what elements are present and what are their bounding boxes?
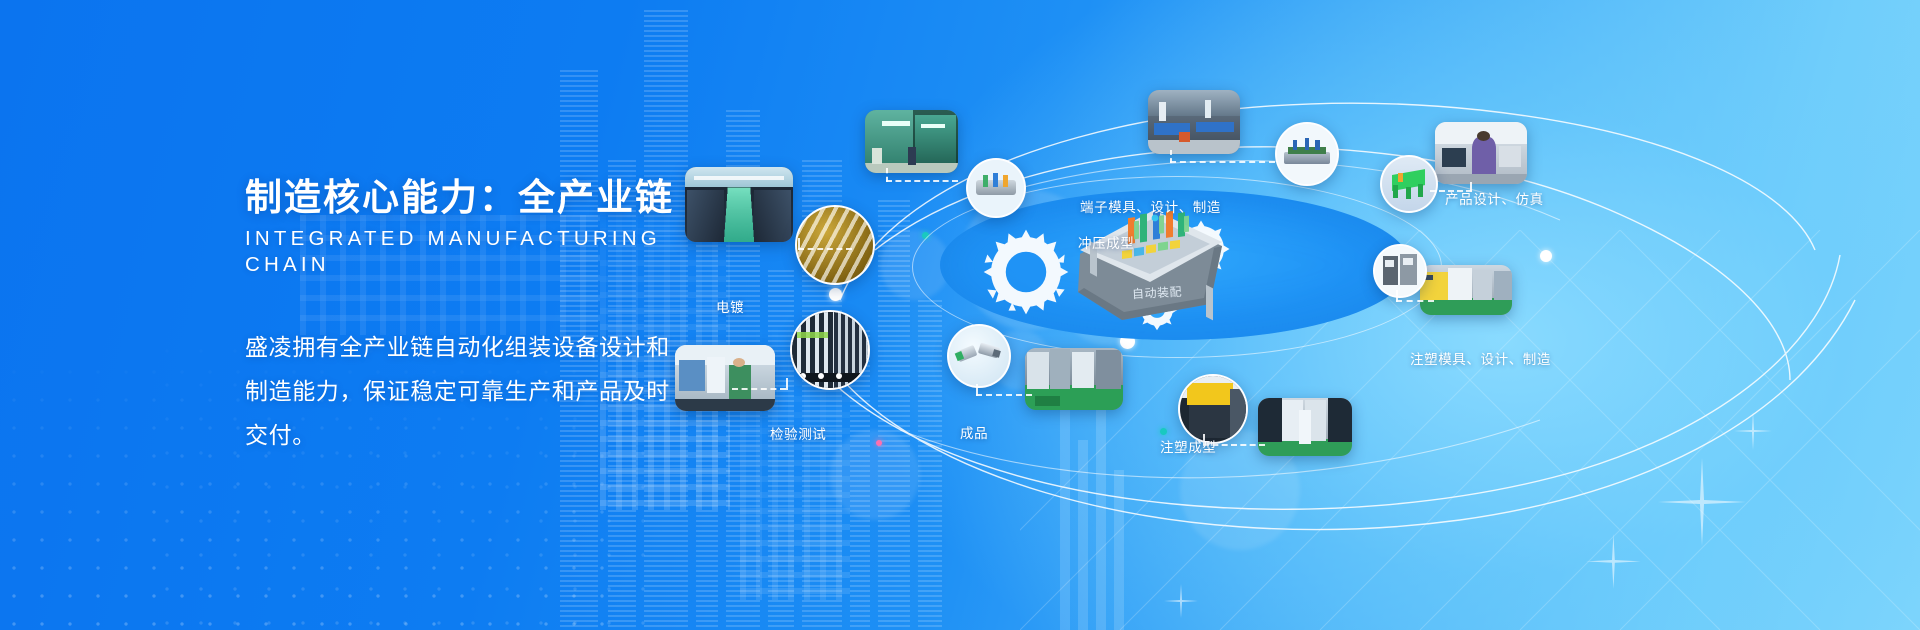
orbit-dot-1 [829,288,842,301]
node-photo-injection-mold [1420,265,1512,315]
node-label-plating: 电镀 [716,296,744,316]
orbit-dot-teal-2 [1160,428,1167,435]
node-icon-product-design [1380,155,1438,213]
connector-inspection-stub [786,378,788,390]
connector-plating [798,248,852,250]
node-photo-stamping [865,110,958,173]
node-label-inspection: 检验测试 [770,423,826,443]
node-label-injection-mold: 注塑模具、设计、制造 [1410,348,1551,368]
orbit-dot-3 [1540,250,1552,262]
hero-copy: 制造核心能力：全产业链 INTEGRATED MANUFACTURING CHA… [245,176,715,279]
connector-stamping-stub [886,168,888,182]
node-icon-injection-mold [1373,244,1427,298]
node-label-injection-forming: 注塑成型 [1160,436,1216,456]
connector-stamping [886,180,958,182]
node-icon-finished-goods [947,324,1011,388]
node-label-product-design: 产品设计、仿真 [1445,188,1544,208]
node-label-finished-goods: 成品 [960,422,988,442]
node-photo-injection-forming [1258,398,1352,456]
connector-inspection [732,388,786,390]
node-label-terminal-mold: 端子模具、设计、制造 [1080,196,1221,216]
node-photo-inspection [675,345,775,411]
connector-injection-mold [1396,300,1434,302]
connector-injection-mold-stub [1396,290,1398,302]
node-icon-stamping-part [966,158,1026,218]
hero-banner: 制造核心能力：全产业链 INTEGRATED MANUFACTURING CHA… [0,0,1920,630]
node-photo-terminal-mold [1148,90,1240,154]
connector-terminal-mold-stub [1170,150,1172,163]
connector-finished-goods [976,394,1032,396]
node-icon-terminal-mold [1275,122,1339,186]
connector-terminal-mold [1170,161,1275,163]
node-icon-injection-forming [1178,374,1248,444]
hero-description: 盛凌拥有全产业链自动化组装设备设计和制造能力，保证稳定可靠生产和产品及时交付。 [245,325,690,457]
node-icon-plating-coil [795,205,875,285]
orbit-dot-pink [876,440,882,446]
page-title: 制造核心能力：全产业链 [245,176,715,220]
node-photo-product-design [1435,122,1527,184]
node-label-stamping: 冲压成型 [1078,232,1134,252]
node-photo-plating [685,167,793,242]
connector-plating-stub [798,238,800,250]
center-machine-label: 自动装配 [1132,283,1183,303]
node-photo-finished-goods [1025,348,1123,410]
page-subtitle: INTEGRATED MANUFACTURING CHAIN [245,226,715,279]
manufacturing-chain-diagram: 自动装配 电镀 [780,0,1920,630]
connector-finished-goods-stub [976,384,978,396]
node-icon-inspection [790,310,870,390]
